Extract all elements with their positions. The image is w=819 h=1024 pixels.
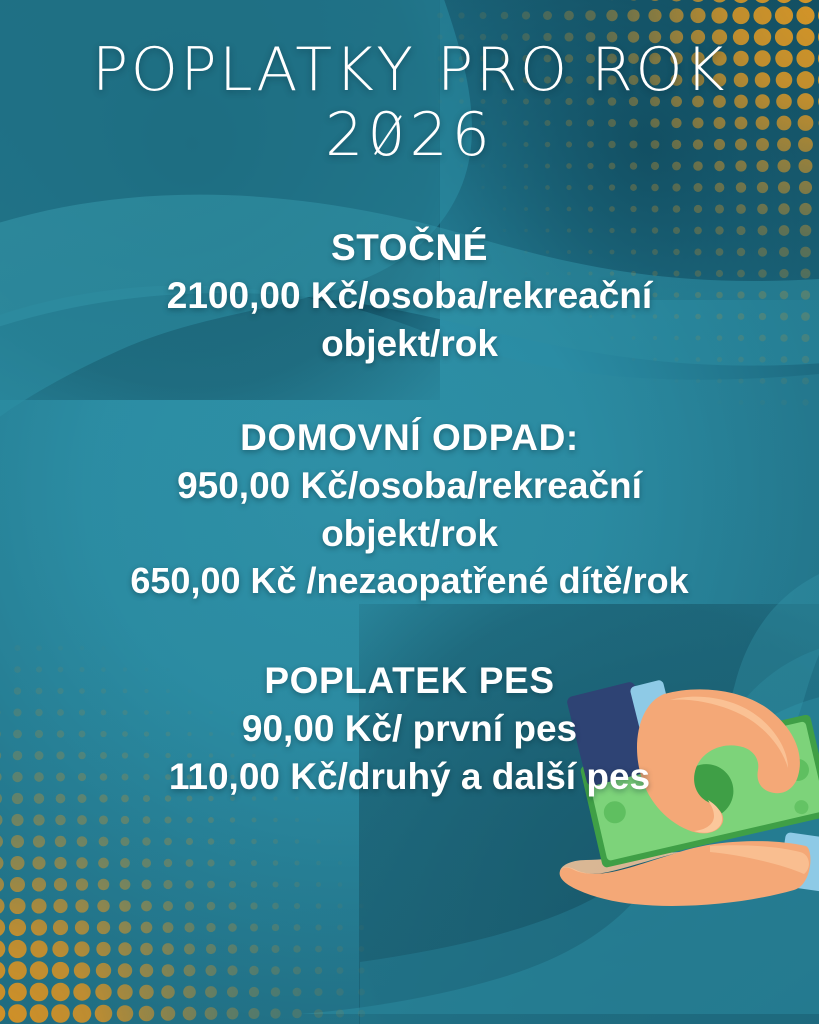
- section-poplatek-pes: POPLATEK PES 90,00 Kč/ první pes 110,00 …: [0, 657, 819, 801]
- section-domovni-odpad-heading: DOMOVNÍ ODPAD:: [22, 414, 797, 462]
- section-stocne-line-2: objekt/rok: [22, 320, 797, 368]
- poster-content: POPLATKY PRO ROK 2026 STOČNÉ 2100,00 Kč/…: [0, 0, 819, 1024]
- section-domovni-odpad: DOMOVNÍ ODPAD: 950,00 Kč/osoba/rekreační…: [0, 414, 819, 605]
- section-domovni-odpad-line-1: 950,00 Kč/osoba/rekreační: [22, 462, 797, 510]
- section-poplatek-pes-heading: POPLATEK PES: [22, 657, 797, 705]
- section-stocne-heading: STOČNÉ: [22, 224, 797, 272]
- title-line-2: 2026: [52, 103, 767, 168]
- title-line-1: POPLATKY PRO ROK: [52, 38, 767, 103]
- poster-canvas: POPLATKY PRO ROK 2026 STOČNÉ 2100,00 Kč/…: [0, 0, 819, 1024]
- section-poplatek-pes-line-1: 90,00 Kč/ první pes: [22, 705, 797, 753]
- section-stocne: STOČNÉ 2100,00 Kč/osoba/rekreační objekt…: [0, 224, 819, 368]
- section-poplatek-pes-line-2: 110,00 Kč/druhý a další pes: [22, 753, 797, 801]
- title-year-suffix: 26: [410, 100, 494, 170]
- page-title: POPLATKY PRO ROK 2026: [0, 0, 819, 168]
- section-domovni-odpad-line-2: objekt/rok: [22, 510, 797, 558]
- section-stocne-line-1: 2100,00 Kč/osoba/rekreační: [22, 272, 797, 320]
- section-domovni-odpad-line-3: 650,00 Kč /nezaopatřené dítě/rok: [22, 558, 797, 605]
- title-year-prefix: 2: [325, 100, 367, 170]
- title-year-slashed-zero: 0: [367, 103, 409, 168]
